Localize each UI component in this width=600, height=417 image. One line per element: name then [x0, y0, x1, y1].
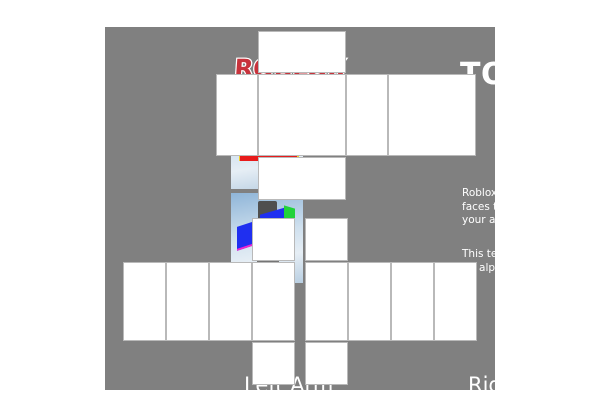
torso-left-side[interactable]: [216, 74, 258, 156]
right-arm-bottom[interactable]: [305, 342, 348, 385]
torso-front[interactable]: [258, 74, 346, 156]
shirt-template-panel: ROBLOX Shirt Template TORSO Left Arm: [105, 27, 495, 390]
right-arm-outer[interactable]: [391, 262, 434, 341]
torso-label: TORSO: [460, 57, 579, 92]
right-arm-inner[interactable]: [305, 262, 348, 341]
right-arm-back[interactable]: [434, 262, 477, 341]
left-arm-inner[interactable]: [252, 262, 295, 341]
torso-top[interactable]: [258, 31, 346, 73]
left-arm-top[interactable]: [252, 218, 295, 261]
right-arm-top[interactable]: [305, 218, 348, 261]
torso-back[interactable]: [388, 74, 476, 156]
left-arm-outer[interactable]: [166, 262, 209, 341]
right-arm-front[interactable]: [348, 262, 391, 341]
left-arm-front[interactable]: [209, 262, 252, 341]
torso-bottom[interactable]: [258, 157, 346, 200]
left-arm-bottom[interactable]: [252, 342, 295, 385]
right-arm-label: Right Arm: [468, 373, 573, 397]
template-canvas: ROBLOX Shirt Template TORSO Left Arm: [0, 0, 600, 417]
torso-right-side[interactable]: [346, 74, 388, 156]
alpha-note: This template supports 8-bit alpha chann…: [462, 248, 598, 275]
left-arm-back[interactable]: [123, 262, 166, 341]
fold-note: Roblox folds up these faces to create a …: [462, 187, 598, 228]
